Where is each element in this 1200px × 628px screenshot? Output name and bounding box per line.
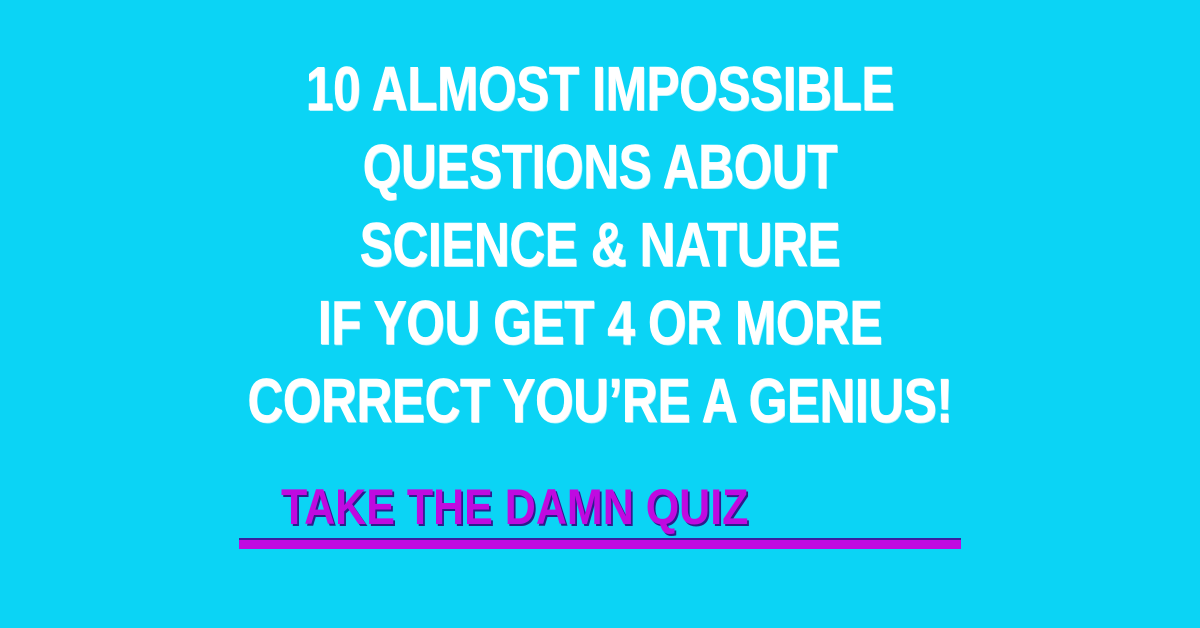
- headline-line-5: CORRECT YOU’RE A GENIUS!: [120, 363, 1080, 441]
- cta-container: TAKE THE DAMN QUIZ: [0, 479, 1200, 549]
- cta-underline: [239, 538, 961, 549]
- quiz-promo-banner: 10 ALMOST IMPOSSIBLE QUESTIONS ABOUT SCI…: [0, 0, 1200, 628]
- cta-block: TAKE THE DAMN QUIZ: [239, 479, 961, 549]
- page-title: 10 ALMOST IMPOSSIBLE QUESTIONS ABOUT SCI…: [0, 51, 1200, 441]
- headline-line-1: 10 ALMOST IMPOSSIBLE: [120, 51, 1080, 129]
- headline-line-2: QUESTIONS ABOUT: [120, 129, 1080, 207]
- headline-line-3: SCIENCE & NATURE: [120, 207, 1080, 285]
- take-quiz-link[interactable]: TAKE THE DAMN QUIZ: [278, 479, 752, 535]
- headline-line-4: IF YOU GET 4 OR MORE: [120, 285, 1080, 363]
